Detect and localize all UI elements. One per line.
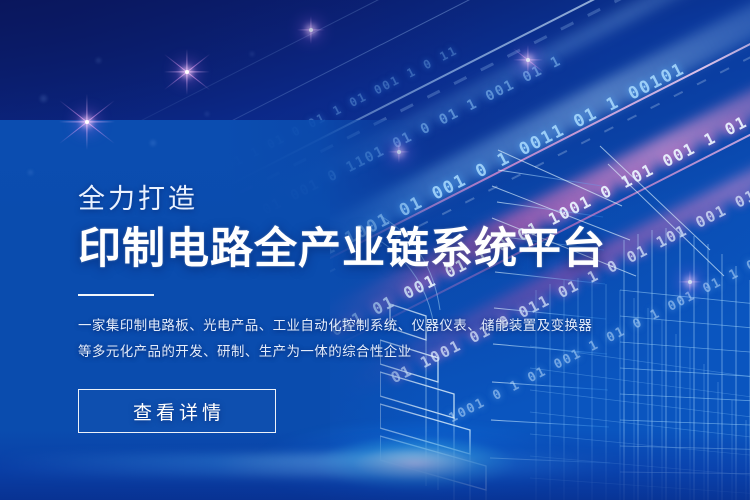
hero-banner: 1 001 01 1001 01 001 0 1 0011 01 1 00101… (0, 0, 750, 500)
view-details-button[interactable]: 查看详情 (78, 389, 276, 433)
banner-eyebrow: 全力打造 (78, 186, 598, 213)
title-divider (78, 294, 154, 296)
bottom-fade (0, 430, 750, 500)
banner-headline: 印制电路全产业链系统平台 (78, 227, 598, 272)
banner-description: 一家集印制电路板、光电产品、工业自动化控制系统、仪器仪表、储能装置及变换器 等多… (78, 313, 548, 366)
description-line-2: 等多元化产品的开发、研制、生产为一体的综合性企业 (78, 339, 548, 365)
banner-content: 全力打造 印制电路全产业链系统平台 一家集印制电路板、光电产品、工业自动化控制系… (78, 186, 598, 433)
description-line-1: 一家集印制电路板、光电产品、工业自动化控制系统、仪器仪表、储能装置及变换器 (78, 313, 548, 339)
